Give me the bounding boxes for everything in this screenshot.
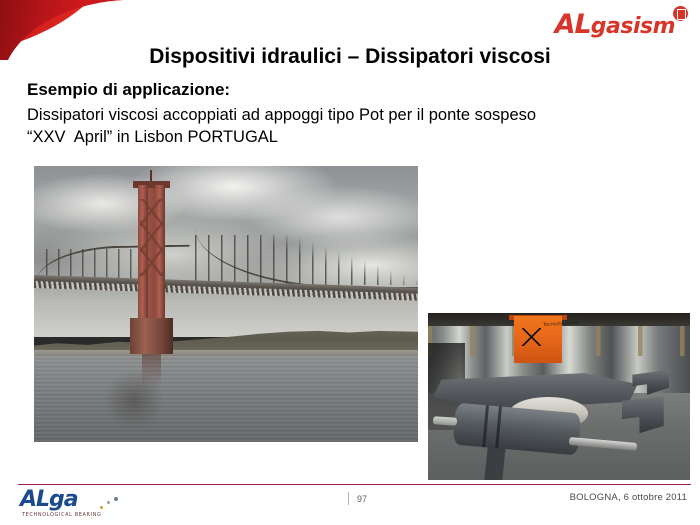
page-number: 97	[357, 494, 367, 504]
hoist-diamond-logo-icon	[522, 328, 540, 346]
alga-tagline: TECHNOLOGICAL BEARING	[22, 512, 102, 518]
section-subtitle: Esempio di applicazione:	[27, 80, 230, 100]
bridge-tower-reflection	[142, 354, 161, 387]
event-location-date: BOLOGNA, 6 ottobre 2011	[570, 492, 687, 503]
alga-logo-dots-icon	[100, 497, 126, 511]
alga-footer-logo: ALga TECHNOLOGICAL BEARING	[20, 489, 140, 522]
damper-band-left	[483, 405, 490, 447]
page-number-group: 97	[348, 492, 367, 505]
algasism-logo: ALgasism	[555, 5, 688, 39]
body-paragraph: Dissipatori viscosi accoppiati ad appogg…	[27, 104, 667, 148]
damper-rod-rear-tip	[433, 416, 457, 426]
registered-mark-icon	[673, 6, 688, 21]
algasism-wordmark-primary: AL	[555, 9, 591, 40]
page-title: Dispositivi idraulici – Dissipatori visc…	[0, 45, 700, 69]
algasism-wordmark: ALgasism	[555, 11, 675, 38]
footer-divider	[18, 484, 691, 485]
viscous-damper-workshop-photo: Tecnostrutture	[428, 313, 690, 480]
bridge-tower-bracing	[140, 199, 163, 276]
suspension-bridge-photo	[34, 166, 418, 442]
presentation-slide: ALgasism Dispositivi idraulici – Dissipa…	[0, 0, 700, 525]
page-number-separator	[348, 492, 349, 505]
body-line-2: “XXV April” in Lisbon PORTUGAL	[27, 126, 667, 148]
bridge-tower-pier	[130, 318, 173, 353]
damper-support-stand	[484, 447, 506, 480]
damper-band-right	[495, 407, 502, 449]
bridge-hangers-right	[195, 235, 418, 285]
body-line-1: Dissipatori viscosi accoppiati ad appogg…	[27, 104, 667, 126]
algasism-wordmark-secondary: gasism	[591, 14, 675, 39]
bridge-tower	[138, 185, 166, 353]
bridge-water	[34, 356, 418, 442]
